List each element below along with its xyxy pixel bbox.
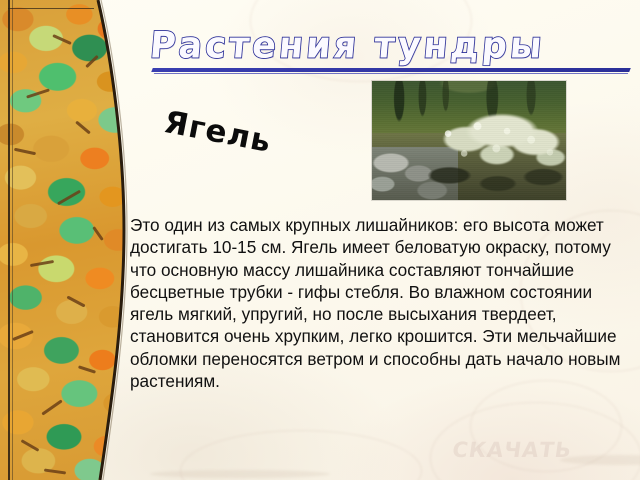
autumn-leaves-border [0, 0, 128, 480]
body-paragraph: Это один из самых крупных лишайников: ег… [130, 214, 630, 392]
slide-title-text: Растения тундры [148, 23, 638, 69]
border-left-rule-thin [12, 0, 13, 480]
title-underline [151, 68, 631, 72]
border-left-rule [8, 0, 10, 480]
slide-subtitle: Ягель [161, 104, 274, 160]
photo-grain [372, 81, 566, 200]
lichen-photo [372, 81, 566, 200]
border-top-rule [8, 8, 94, 9]
paper-vein [150, 470, 330, 478]
title-underline-thin [154, 73, 628, 74]
slide-title: Растения тундры [150, 24, 636, 70]
presentation-slide: Растения тундры Ягель Это один из самых … [0, 0, 640, 480]
